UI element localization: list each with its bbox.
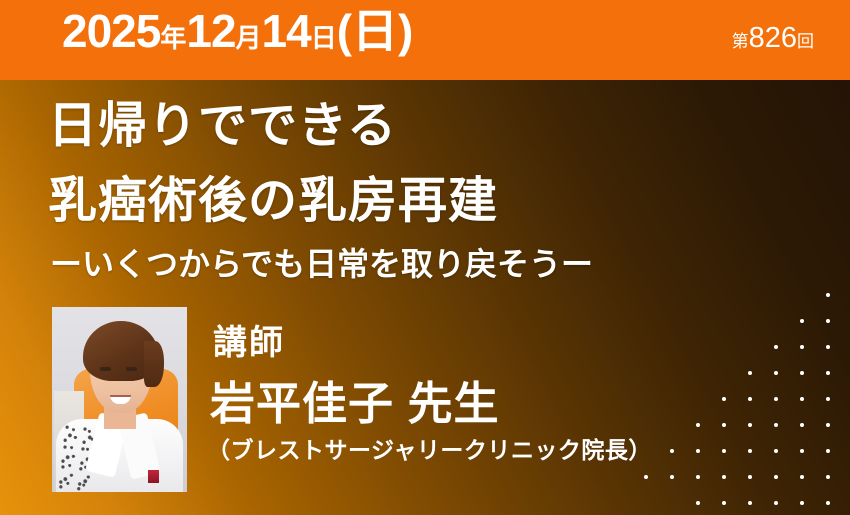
decoration-dot (670, 475, 674, 479)
decoration-dot (696, 449, 700, 453)
session-value: 826 (749, 22, 797, 54)
decoration-dot (696, 501, 700, 505)
date-month: 12 (186, 5, 235, 57)
decoration-dot (826, 475, 830, 479)
date-day-unit: 日 (311, 23, 337, 53)
decoration-dot (748, 423, 752, 427)
photo-hair-side (144, 341, 164, 387)
decoration-dot (800, 371, 804, 375)
decoration-dot (696, 475, 700, 479)
session-prefix: 第 (732, 32, 749, 51)
photo-name-badge (148, 470, 159, 483)
decoration-dot (748, 449, 752, 453)
decoration-dot (774, 449, 778, 453)
date-year-unit: 年 (160, 23, 186, 53)
decoration-dot (800, 475, 804, 479)
decoration-dot (826, 501, 830, 505)
decoration-dot (800, 319, 804, 323)
decoration-dot (826, 319, 830, 323)
subtitle: ーいくつからでも日常を取り戻そうー (50, 248, 593, 280)
date-month-unit: 月 (236, 23, 262, 53)
speaker-photo (52, 307, 187, 492)
session-suffix: 回 (797, 32, 814, 51)
decoration-dot (722, 449, 726, 453)
photo-eye-left (100, 367, 111, 371)
decoration-dot (800, 501, 804, 505)
decoration-dot (722, 475, 726, 479)
decoration-dot (800, 449, 804, 453)
decoration-dot (774, 475, 778, 479)
date-day: 14 (262, 5, 311, 57)
decoration-dot (800, 423, 804, 427)
title-line-2: 乳癌術後の乳房再建 (48, 177, 498, 226)
date-year: 2025 (62, 5, 160, 57)
decoration-dot (800, 397, 804, 401)
decoration-dot (774, 397, 778, 401)
decoration-dot (644, 475, 648, 479)
lecturer-name: 岩平佳子 先生 (210, 381, 500, 426)
decoration-dot (696, 423, 700, 427)
decoration-dot (722, 397, 726, 401)
poster-body: 日帰りでできる 乳癌術後の乳房再建 ーいくつからでも日常を取り戻そうー (0, 80, 850, 515)
decoration-dot (826, 293, 830, 297)
decoration-dot (774, 345, 778, 349)
decoration-dot (774, 501, 778, 505)
date-weekday: (日) (337, 5, 414, 57)
decoration-dot (826, 397, 830, 401)
seminar-poster: 2025年12月14日(日) 第826回 日帰りでできる 乳癌術後の乳房再建 ー… (0, 0, 850, 515)
decoration-dot (748, 475, 752, 479)
decoration-dot (748, 397, 752, 401)
lecturer-affiliation: （ブレストサージャリークリニック院長） (207, 439, 652, 462)
decoration-dot (748, 501, 752, 505)
decoration-dot (826, 449, 830, 453)
decoration-dot (774, 423, 778, 427)
session-number: 第826回 (732, 24, 814, 53)
event-date: 2025年12月14日(日) (62, 8, 413, 54)
decoration-dot (722, 423, 726, 427)
photo-eye-right (126, 367, 137, 371)
lecturer-label: 講師 (213, 326, 285, 360)
decoration-dot (826, 371, 830, 375)
decoration-dot (826, 345, 830, 349)
decoration-dot (826, 423, 830, 427)
decoration-dot (670, 449, 674, 453)
title-line-1: 日帰りでできる (48, 102, 397, 151)
decoration-dot (722, 501, 726, 505)
decoration-dot (800, 345, 804, 349)
decoration-dot (774, 371, 778, 375)
dot-pattern-decoration (630, 285, 850, 515)
header-band: 2025年12月14日(日) 第826回 (0, 0, 850, 80)
speaker-photo-image (52, 307, 187, 492)
decoration-dot (748, 371, 752, 375)
